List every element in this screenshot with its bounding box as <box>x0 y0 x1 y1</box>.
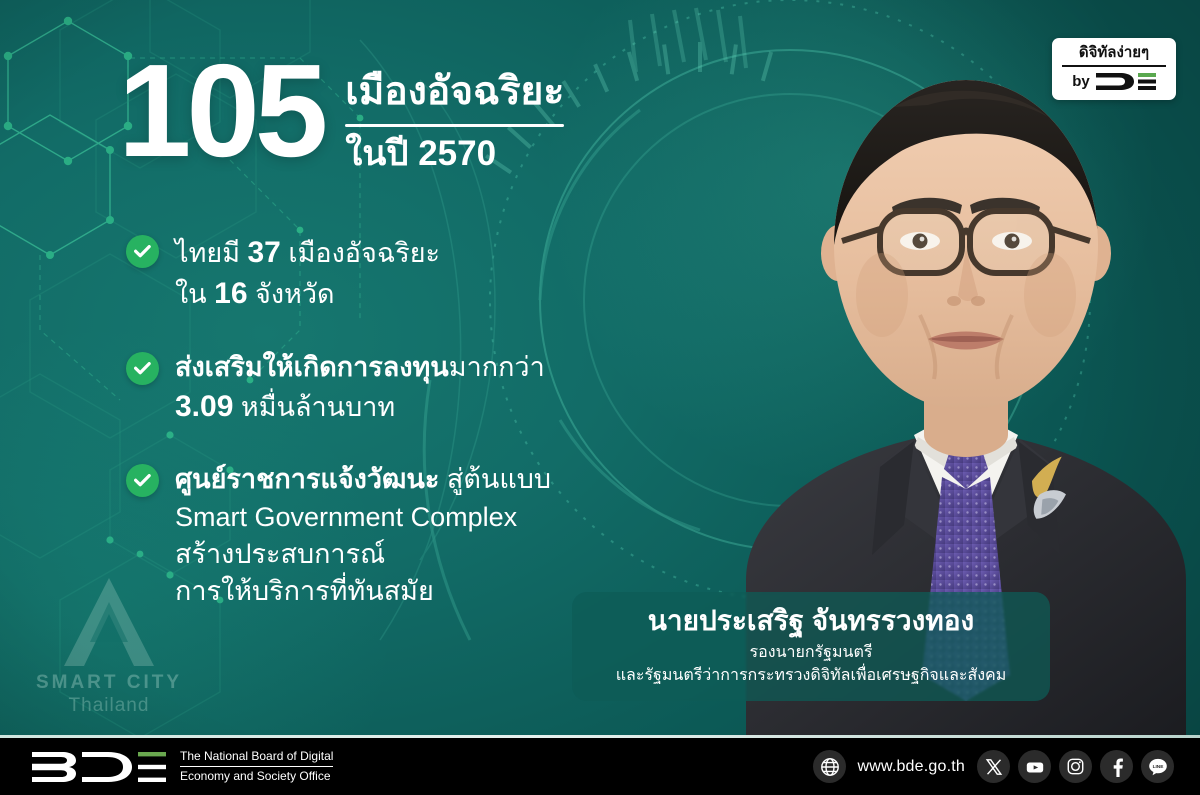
bullet-line: การให้บริการที่ทันสมัย <box>175 573 551 610</box>
de-badge: ดิจิทัลง่ายๆ by <box>1052 38 1176 100</box>
instagram-icon[interactable] <box>1059 750 1092 783</box>
facebook-icon[interactable] <box>1100 750 1133 783</box>
bde-logo-icon <box>28 748 168 786</box>
svg-text:LINE: LINE <box>1152 763 1163 769</box>
bullet-line: ไทยมี 37 เมืองอัจฉริยะ <box>175 232 440 273</box>
check-icon <box>126 464 159 497</box>
headline-line-1: เมืองอัจฉริยะ <box>345 70 564 115</box>
website-url[interactable]: www.bde.go.th <box>857 758 965 776</box>
headline-number: 105 <box>118 48 323 173</box>
org-name-line-2: Economy and Society Office <box>180 767 333 784</box>
globe-icon[interactable] <box>813 750 846 783</box>
nameplate: นายประเสริฐ จันทรรวงทอง รองนายกรัฐมนตรี … <box>572 592 1050 701</box>
headline-block: 105 เมืองอัจฉริยะ ในปี 2570 <box>118 48 564 174</box>
de-badge-divider <box>1062 65 1166 67</box>
bullet-line: 3.09 หมื่นล้านบาท <box>175 386 545 427</box>
headline-line-2: ในปี 2570 <box>345 134 564 174</box>
social-links: www.bde.go.th <box>805 750 1174 783</box>
person-name: นายประเสริฐ จันทรรวงทอง <box>592 604 1030 638</box>
line-icon[interactable]: LINE <box>1141 750 1174 783</box>
watermark-title: SMART CITY <box>14 672 204 694</box>
bullet-line: ใน 16 จังหวัด <box>175 273 440 314</box>
bullet-line: ส่งเสริมให้เกิดการลงทุนมากกว่า <box>175 349 545 386</box>
de-badge-by-label: by <box>1072 74 1090 89</box>
bullet-item: ไทยมี 37 เมืองอัจฉริยะ ใน 16 จังหวัด <box>126 232 626 315</box>
headline-divider <box>345 124 564 127</box>
bullet-line: ศูนย์ราชการแจ้งวัฒนะ สู่ต้นแบบ <box>175 461 551 498</box>
infographic-poster: SMART CITY Thailand <box>0 0 1200 795</box>
youtube-icon[interactable] <box>1018 750 1051 783</box>
bullet-item: ศูนย์ราชการแจ้งวัฒนะ สู่ต้นแบบ Smart Gov… <box>126 461 626 610</box>
bullet-line: สร้างประสบการณ์ <box>175 536 551 573</box>
bde-brand: The National Board of Digital Economy an… <box>28 748 333 786</box>
person-role-line-2: และรัฐมนตรีว่าการกระทรวงดิจิทัลเพื่อเศรษ… <box>592 664 1030 687</box>
bullet-list: ไทยมี 37 เมืองอัจฉริยะ ใน 16 จังหวัด ส่ง… <box>126 232 626 610</box>
footer-bar: The National Board of Digital Economy an… <box>0 738 1200 795</box>
person-role-line-1: รองนายกรัฐมนตรี <box>592 641 1030 664</box>
check-icon <box>126 352 159 385</box>
x-twitter-icon[interactable] <box>977 750 1010 783</box>
org-name-line-1: The National Board of Digital <box>180 749 333 766</box>
watermark-subtitle: Thailand <box>14 695 204 717</box>
check-icon <box>126 235 159 268</box>
de-logo-icon <box>1094 71 1156 92</box>
bullet-item: ส่งเสริมให้เกิดการลงทุนมากกว่า 3.09 หมื่… <box>126 349 626 428</box>
de-badge-top-label: ดิจิทัลง่ายๆ <box>1061 45 1167 65</box>
bullet-line: Smart Government Complex <box>175 499 551 536</box>
